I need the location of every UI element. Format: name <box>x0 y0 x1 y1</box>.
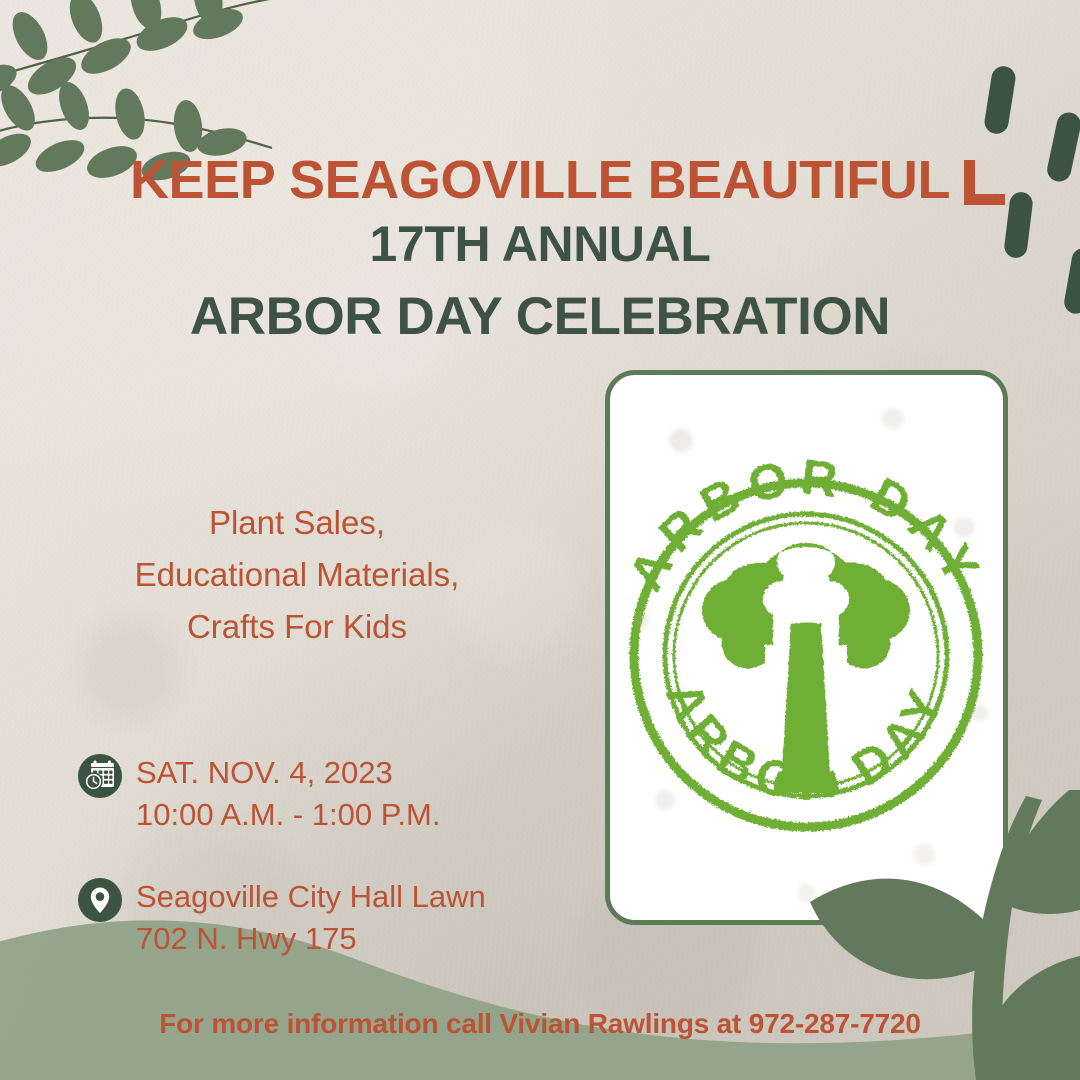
page-title-line-2: 17TH ANNUAL <box>0 218 1080 271</box>
date-time-text: SAT. NOV. 4, 2023 10:00 A.M. - 1:00 P.M. <box>136 752 440 836</box>
activity-line-1: Plant Sales, <box>62 497 532 549</box>
page-title-line-1: KEEP SEAGOVILLE BEAUTIFUL <box>0 152 1080 209</box>
location-row: Seagoville City Hall Lawn 702 N. Hwy 175 <box>78 876 486 960</box>
venue-name: Seagoville City Hall Lawn <box>136 876 486 918</box>
activity-line-3: Crafts For Kids <box>62 601 532 653</box>
activities-list: Plant Sales, Educational Materials, Craf… <box>62 497 532 652</box>
event-date: SAT. NOV. 4, 2023 <box>136 752 440 794</box>
venue-address: 702 N. Hwy 175 <box>136 918 486 960</box>
activity-line-2: Educational Materials, <box>62 549 532 601</box>
arbor-day-flyer: KEEP SEAGOVILLE BEAUTIFUL 17TH ANNUAL AR… <box>0 0 1080 1080</box>
footer-contact-line: For more information call Vivian Rawling… <box>0 1008 1080 1040</box>
location-text: Seagoville City Hall Lawn 702 N. Hwy 175 <box>136 876 486 960</box>
event-time: 10:00 A.M. - 1:00 P.M. <box>136 794 440 836</box>
map-pin-icon <box>78 878 122 927</box>
calendar-clock-icon <box>78 754 122 803</box>
headings-group: KEEP SEAGOVILLE BEAUTIFUL 17TH ANNUAL AR… <box>0 152 1080 345</box>
page-title-line-3: ARBOR DAY CELEBRATION <box>0 289 1080 345</box>
date-time-row: SAT. NOV. 4, 2023 10:00 A.M. - 1:00 P.M. <box>78 752 440 836</box>
